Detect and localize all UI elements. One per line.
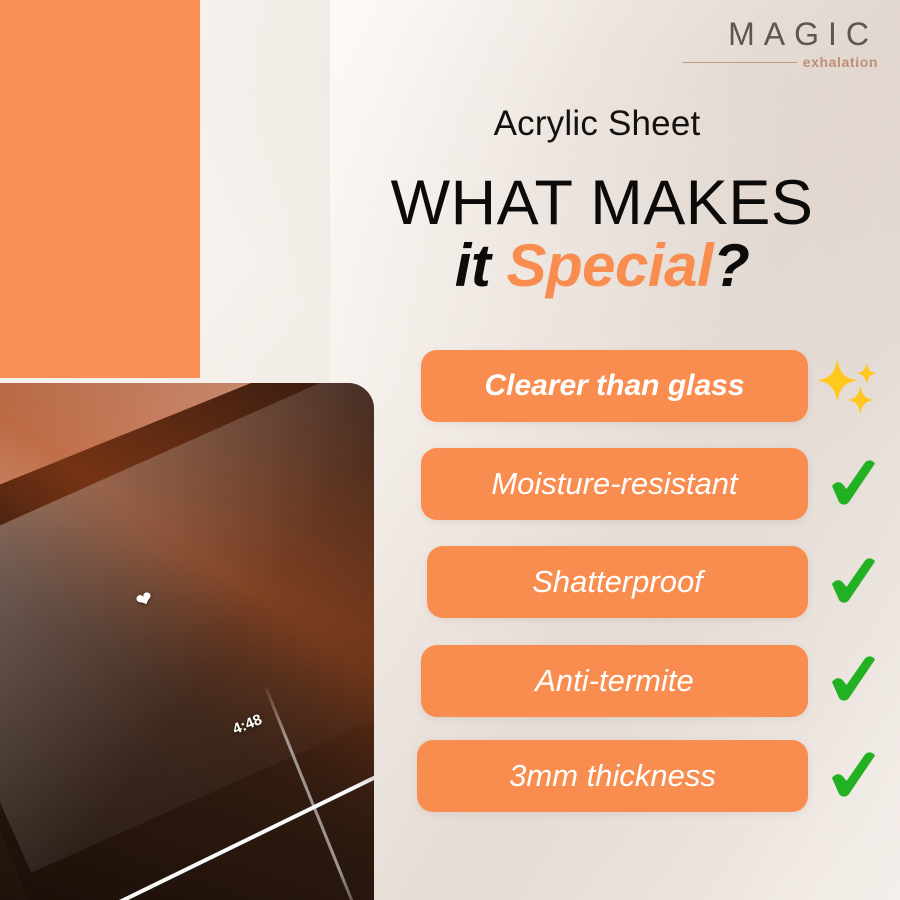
headline-italic-it: it bbox=[455, 232, 507, 299]
brand-tagline-row: exhalation bbox=[682, 55, 878, 69]
headline-accent-special: Special bbox=[507, 232, 714, 299]
feature-pill-5-label: 3mm thickness bbox=[509, 758, 716, 794]
product-category-label: Acrylic Sheet bbox=[372, 104, 822, 144]
brand-tagline: exhalation bbox=[803, 55, 878, 69]
feature-pill-3-label: Shatterproof bbox=[532, 564, 703, 600]
check-icon bbox=[820, 648, 884, 712]
check-icon bbox=[820, 452, 884, 516]
feature-pill-1[interactable]: Clearer than glass bbox=[421, 350, 808, 422]
brand-logo: MAGIC exhalation bbox=[682, 18, 878, 69]
product-photo: d Years erri ❤ 4:48 🔀 ◀❙ ❙❙ ▶❙ 🔁 ve You … bbox=[0, 383, 374, 900]
feature-pill-4[interactable]: Anti-termite bbox=[421, 645, 808, 717]
orange-accent-block bbox=[0, 0, 200, 378]
headline-line-1: WHAT MAKES bbox=[372, 172, 832, 235]
feature-pill-2-label: Moisture-resistant bbox=[491, 466, 737, 502]
headline-line-2: it Special? bbox=[372, 230, 832, 302]
brand-name: MAGIC bbox=[682, 18, 878, 50]
sparkles-icon bbox=[816, 352, 880, 416]
feature-pill-4-label: Anti-termite bbox=[535, 663, 693, 699]
feature-pill-2[interactable]: Moisture-resistant bbox=[421, 448, 808, 520]
feature-pill-1-label: Clearer than glass bbox=[484, 369, 744, 403]
check-icon bbox=[820, 744, 884, 808]
feature-pill-3[interactable]: Shatterproof bbox=[427, 546, 808, 618]
headline-question-mark: ? bbox=[713, 232, 749, 299]
feature-pill-5[interactable]: 3mm thickness bbox=[417, 740, 808, 812]
check-icon bbox=[820, 550, 884, 614]
poster-canvas: d Years erri ❤ 4:48 🔀 ◀❙ ❙❙ ▶❙ 🔁 ve You … bbox=[0, 0, 900, 900]
logo-divider-line bbox=[682, 62, 797, 63]
